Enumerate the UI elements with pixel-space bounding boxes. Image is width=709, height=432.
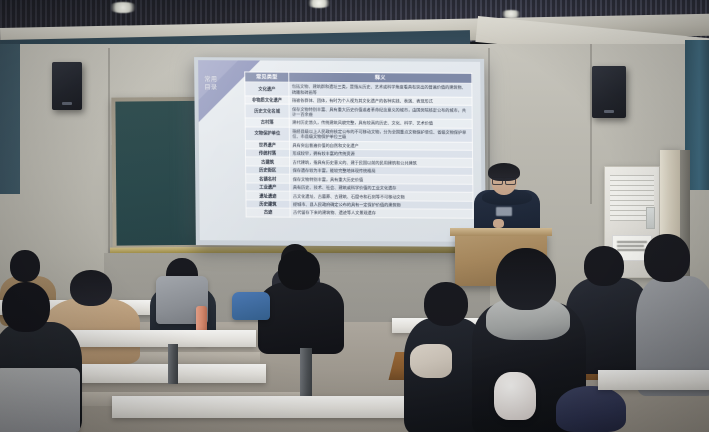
- presentation-slide: 常用 目录 常见类型 释义 文化遗产包括文物、建筑群和遗址三类，是指从历史、艺术…: [198, 60, 482, 242]
- left-speaker: [52, 62, 82, 110]
- slide-cell-type: 古迹: [246, 208, 290, 217]
- slide-corner-label-line-2: 目录: [204, 84, 238, 92]
- slide-cell-type: 传统村落: [245, 149, 289, 158]
- speaker-led: [604, 110, 614, 113]
- scarf: [410, 344, 452, 378]
- student-head: [584, 246, 624, 286]
- desk-leg: [300, 348, 312, 396]
- slide-table-row: 文物保护单位指经县级以上人民政府核定公布的不可移动文物，分为全国重点文物保护单位…: [245, 127, 472, 142]
- white-plastic-bag: [494, 372, 536, 420]
- student-head: [644, 234, 690, 282]
- slide-cell-type: 遗址遗迹: [246, 191, 290, 200]
- projection-screen: 常用 目录 常见类型 释义 文化遗产包括文物、建筑群和遗址三类，是指从历史、艺术…: [194, 57, 486, 247]
- slide-cell-type: 文化遗产: [245, 82, 289, 96]
- student-head: [2, 282, 50, 332]
- column-header-type: 常见类型: [245, 72, 289, 82]
- slide-table: 常见类型 释义 文化遗产包括文物、建筑群和遗址三类，是指从历史、艺术或科学角度看…: [244, 71, 473, 218]
- slide-table-row: 古迹古代留存下来的建筑物、遗迹等人文景观遗存: [246, 208, 473, 218]
- slide-cell-meaning: 保存文物特别丰富、具有重大历史价值或者革命纪念意义的城市，由国务院核定公布的城市…: [289, 105, 472, 120]
- slide-cell-meaning: 指经县级以上人民政府核定公布的不可移动文物，分为全国重点文物保护单位、省级文物保…: [289, 127, 472, 142]
- slide-cell-type: 古建筑: [246, 157, 290, 166]
- presenter-jacket-logo: [496, 207, 512, 216]
- navy-cap: [556, 386, 626, 432]
- desk-right-3: [598, 370, 709, 390]
- lecture-hall-photo: 常用 目录 常见类型 释义 文化遗产包括文物、建筑群和遗址三类，是指从历史、艺术…: [0, 0, 709, 432]
- slide-cell-type: 文物保护单位: [245, 127, 289, 141]
- slide-cell-type: 历史文化名城: [245, 104, 289, 118]
- slide-cell-type: 名镇名村: [246, 174, 290, 183]
- blue-bag: [232, 292, 270, 320]
- desk-row-4: [112, 396, 422, 418]
- student-head: [278, 250, 320, 290]
- podium-top-surface: [450, 228, 552, 236]
- slide-cell-type: 历史街区: [246, 166, 290, 175]
- slide-corner-label-line-1: 常用: [204, 76, 238, 84]
- slide-cell-meaning: 包括文物、建筑群和遗址三类，是指从历史、艺术或科学角度看具有突出的普遍价值的建筑…: [289, 82, 472, 97]
- slide-corner-label: 常用 目录: [204, 76, 238, 91]
- right-speaker: [592, 66, 626, 118]
- slide-table-row: 历史文化名城保存文物特别丰富、具有重大历史价值或者革命纪念意义的城市，由国务院核…: [245, 104, 472, 119]
- student-head: [496, 248, 556, 310]
- student-head: [10, 250, 40, 282]
- slide-cell-type: 非物质文化遗产: [245, 96, 289, 105]
- gray-chair-back: [0, 368, 80, 432]
- slide-cell-type: 古村落: [245, 118, 289, 127]
- student-head: [424, 282, 468, 326]
- downlight: [108, 2, 138, 13]
- student-torso: [258, 282, 344, 354]
- slide-table-body: 文化遗产包括文物、建筑群和遗址三类，是指从历史、艺术或科学角度看具有突出的普遍价…: [245, 82, 473, 218]
- left-wall-column: [0, 44, 20, 194]
- slide-cell-meaning: 古代留存下来的建筑物、遗迹等人文景观遗存: [290, 209, 473, 219]
- student-black-coat-mid: [258, 252, 344, 352]
- speaker-led: [62, 102, 72, 105]
- presenter-glasses: [492, 177, 516, 182]
- cabinet-control-panel: [646, 207, 655, 229]
- slide-table-row: 文化遗产包括文物、建筑群和遗址三类，是指从历史、艺术或科学角度看具有突出的普遍价…: [245, 82, 472, 97]
- slide-cell-type: 世界遗产: [245, 140, 289, 149]
- slide-cell-type: 工业遗产: [246, 183, 290, 192]
- presenter-hand: [493, 219, 504, 228]
- desk-leg: [168, 344, 178, 384]
- slide-cell-type: 历史建筑: [246, 200, 290, 209]
